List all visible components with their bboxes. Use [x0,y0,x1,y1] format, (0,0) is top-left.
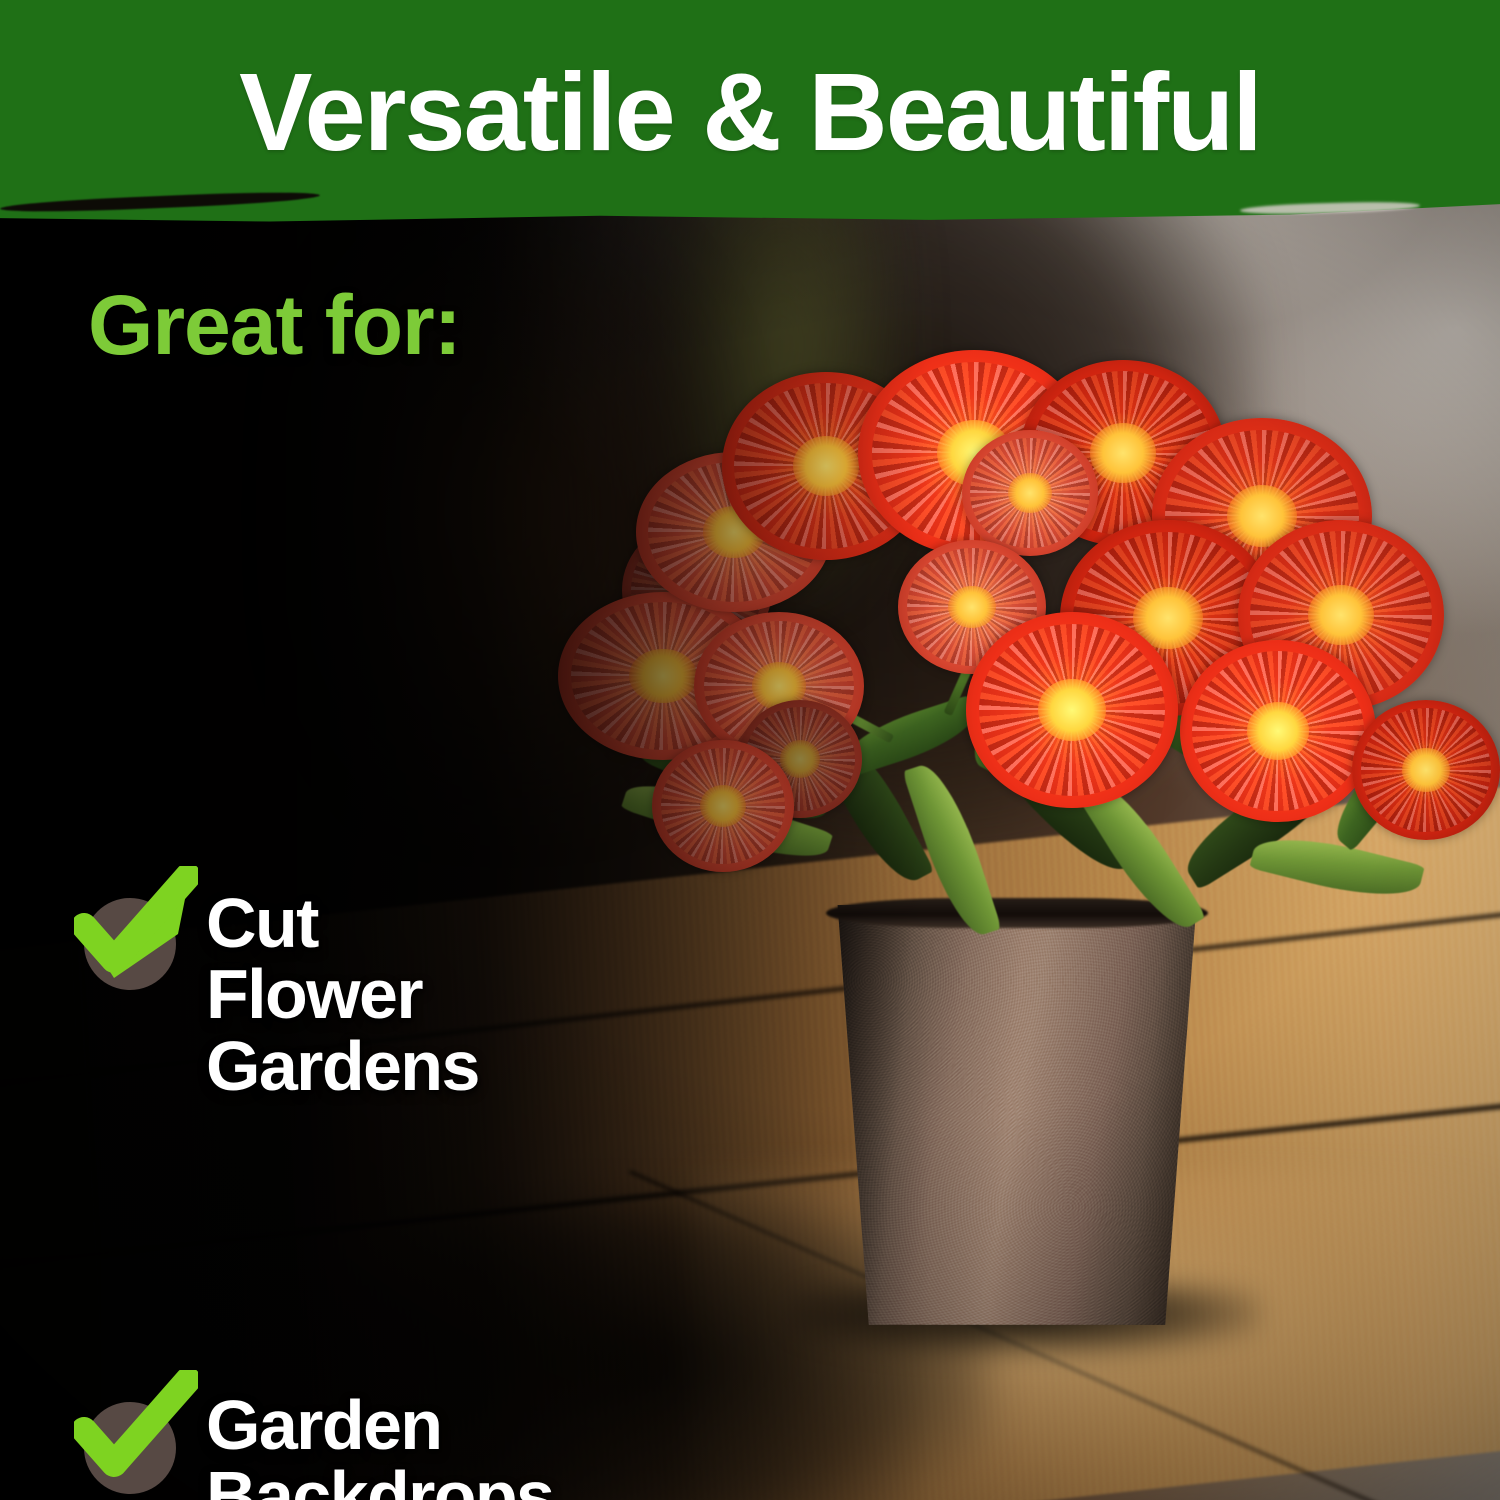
list-item-label: Cut Flower Gardens [206,888,479,1102]
product-infographic: Versatile & Beautiful Great for: Cut Flo… [0,0,1500,1500]
check-bullet [78,1384,190,1496]
check-icon [74,866,198,990]
list-item-label: Garden Backdrops [206,1390,553,1500]
content-layer: Great for: Cut Flower Gardens [0,0,1500,1500]
section-heading: Great for: [88,283,461,367]
check-icon [74,1370,198,1494]
check-bullet [78,880,190,992]
